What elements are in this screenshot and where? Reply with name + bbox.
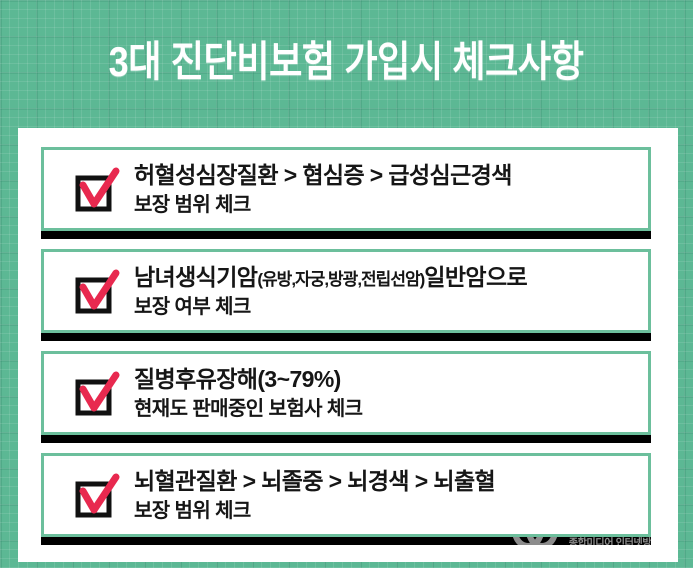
check-card: 남녀생식기암(유방,자궁,방광,전립선암)일반암으로 보장 여부 체크 [41, 249, 651, 333]
checkbox-checked-icon [70, 467, 126, 523]
check-card-body[interactable]: 허혈성심장질환 > 협심증 > 급성심근경색 보장 범위 체크 [41, 147, 651, 231]
check-card-body[interactable]: 남녀생식기암(유방,자궁,방광,전립선암)일반암으로 보장 여부 체크 [41, 249, 651, 333]
check-card-line1: 허혈성심장질환 > 협심증 > 급성심근경색 [134, 161, 638, 192]
check-card-line1: 뇌혈관질환 > 뇌졸중 > 뇌경색 > 뇌출혈 [134, 467, 638, 498]
line1-main: 허혈성심장질환 > 협심증 > 급성심근경색 [134, 162, 512, 188]
check-card-text: 허혈성심장질환 > 협심증 > 급성심근경색 보장 범위 체크 [134, 161, 648, 218]
line1-main: 남녀생식기암 [134, 264, 257, 290]
card-drop-shadow [41, 536, 651, 545]
check-card-line2: 현재도 판매중인 보험사 체크 [134, 396, 638, 422]
content-panel: 허혈성심장질환 > 협심증 > 급성심근경색 보장 범위 체크 남녀생 [18, 128, 678, 562]
check-card-body[interactable]: 질병후유장해(3~79%) 현재도 판매중인 보험사 체크 [41, 351, 651, 435]
checkbox-checked-icon [70, 365, 126, 421]
check-card-text: 뇌혈관질환 > 뇌졸중 > 뇌경색 > 뇌출혈 보장 범위 체크 [134, 467, 648, 524]
line1-small: (유방,자궁,방광,전립선암) [257, 270, 424, 289]
poster-canvas: 3대 진단비보험 가입시 체크사항 허혈성심장질환 > 협심증 > 급성심근경색… [0, 0, 693, 568]
line1-main: 뇌혈관질환 > 뇌졸중 > 뇌경색 > 뇌출혈 [134, 468, 495, 494]
check-card: 허혈성심장질환 > 협심증 > 급성심근경색 보장 범위 체크 [41, 147, 651, 231]
line1-main: 질병후유장해(3~79%) [134, 366, 341, 392]
checkbox-checked-icon [70, 263, 126, 319]
check-card: 뇌혈관질환 > 뇌졸중 > 뇌경색 > 뇌출혈 보장 범위 체크 [41, 453, 651, 537]
check-card-line2: 보장 범위 체크 [134, 192, 638, 218]
check-card-text: 남녀생식기암(유방,자궁,방광,전립선암)일반암으로 보장 여부 체크 [134, 263, 648, 320]
line1-tail: 일반암으로 [424, 264, 527, 290]
title-bar: 3대 진단비보험 가입시 체크사항 [0, 34, 693, 90]
check-card-line2: 보장 여부 체크 [134, 294, 638, 320]
card-drop-shadow [41, 230, 651, 239]
card-drop-shadow [41, 332, 651, 341]
check-card-line1: 질병후유장해(3~79%) [134, 365, 638, 396]
check-card-line2: 보장 범위 체크 [134, 498, 638, 524]
check-card-text: 질병후유장해(3~79%) 현재도 판매중인 보험사 체크 [134, 365, 648, 422]
check-card: 질병후유장해(3~79%) 현재도 판매중인 보험사 체크 [41, 351, 651, 435]
check-card-line1: 남녀생식기암(유방,자궁,방광,전립선암)일반암으로 [134, 263, 638, 294]
checkbox-checked-icon [70, 161, 126, 217]
check-card-body[interactable]: 뇌혈관질환 > 뇌졸중 > 뇌경색 > 뇌출혈 보장 범위 체크 [41, 453, 651, 537]
card-drop-shadow [41, 434, 651, 443]
page-title: 3대 진단비보험 가입시 체크사항 [109, 34, 584, 90]
